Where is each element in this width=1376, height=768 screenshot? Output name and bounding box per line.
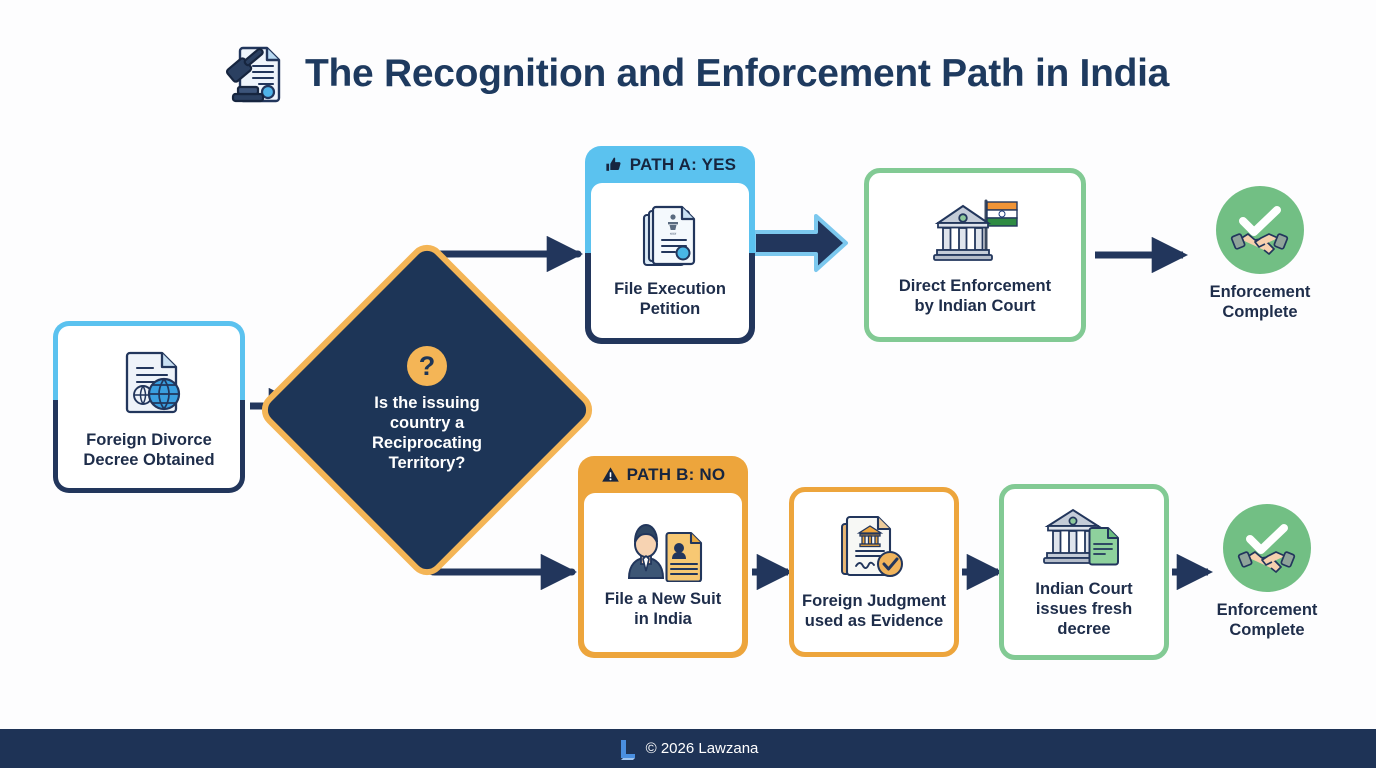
gavel-document-icon bbox=[215, 38, 287, 110]
node-file-new-suit[interactable]: File a New Suit in India bbox=[584, 493, 742, 652]
question-mark-icon: ? bbox=[407, 346, 447, 386]
node-label: Foreign Divorce Decree Obtained bbox=[83, 431, 214, 471]
handshake-check-icon bbox=[1223, 504, 1311, 592]
lawyer-profile-document-icon bbox=[617, 516, 709, 582]
page-title: The Recognition and Enforcement Path in … bbox=[215, 38, 1169, 110]
svg-text:भारत: भारत bbox=[670, 232, 677, 236]
judgment-document-check-icon bbox=[836, 512, 912, 582]
path-b-band: PATH B: NO bbox=[578, 456, 748, 493]
courthouse-decree-icon bbox=[1042, 504, 1126, 570]
node-label: Enforcement Complete bbox=[1217, 601, 1318, 641]
node-direct-enforcement[interactable]: Direct Enforcement by Indian Court bbox=[864, 168, 1086, 342]
footer-text: © 2026 Lawzana bbox=[646, 740, 759, 757]
node-label: File Execution Petition bbox=[614, 280, 726, 320]
node-label: Enforcement Complete bbox=[1210, 283, 1311, 323]
path-b-container[interactable]: PATH B: NO bbox=[578, 456, 748, 658]
node-label: Direct Enforcement by Indian Court bbox=[899, 277, 1051, 317]
path-a-label: PATH A: YES bbox=[630, 155, 736, 175]
petition-document-icon: भारत bbox=[635, 202, 705, 272]
path-a-container[interactable]: PATH A: YES भारत bbox=[585, 146, 755, 344]
document-globe-icon bbox=[110, 343, 188, 421]
handshake-check-icon bbox=[1216, 186, 1304, 274]
node-indian-court-fresh-decree[interactable]: Indian Court issues fresh decree bbox=[999, 484, 1169, 660]
node-label: Foreign Judgment used as Evidence bbox=[802, 592, 946, 632]
arrow-petition-to-enforcement bbox=[754, 216, 846, 270]
node-enforcement-complete-b[interactable]: Enforcement Complete bbox=[1197, 504, 1337, 641]
path-a-band: PATH A: YES bbox=[585, 146, 755, 183]
node-enforcement-complete-a[interactable]: Enforcement Complete bbox=[1190, 186, 1330, 323]
node-label: File a New Suit in India bbox=[605, 590, 721, 630]
decision-question: Is the issuing country a Reciprocating T… bbox=[372, 394, 482, 473]
path-b-label: PATH B: NO bbox=[627, 465, 726, 485]
node-foreign-divorce-decree[interactable]: Foreign Divorce Decree Obtained bbox=[53, 321, 245, 493]
warning-triangle-icon bbox=[601, 465, 620, 484]
node-file-execution-petition[interactable]: भारत File Execution Petition bbox=[591, 183, 749, 338]
courthouse-india-flag-icon bbox=[932, 193, 1018, 267]
thumbs-up-icon bbox=[604, 155, 623, 174]
node-decision-reciprocating-territory[interactable]: ? Is the issuing country a Reciprocating… bbox=[305, 288, 549, 532]
lawzana-l-logo bbox=[618, 738, 638, 760]
title-text: The Recognition and Enforcement Path in … bbox=[305, 52, 1169, 96]
footer-bar: © 2026 Lawzana bbox=[0, 729, 1376, 768]
flowchart-canvas: The Recognition and Enforcement Path in … bbox=[0, 0, 1376, 768]
node-label: Indian Court issues fresh decree bbox=[1035, 580, 1132, 639]
node-foreign-judgment-evidence[interactable]: Foreign Judgment used as Evidence bbox=[789, 487, 959, 657]
